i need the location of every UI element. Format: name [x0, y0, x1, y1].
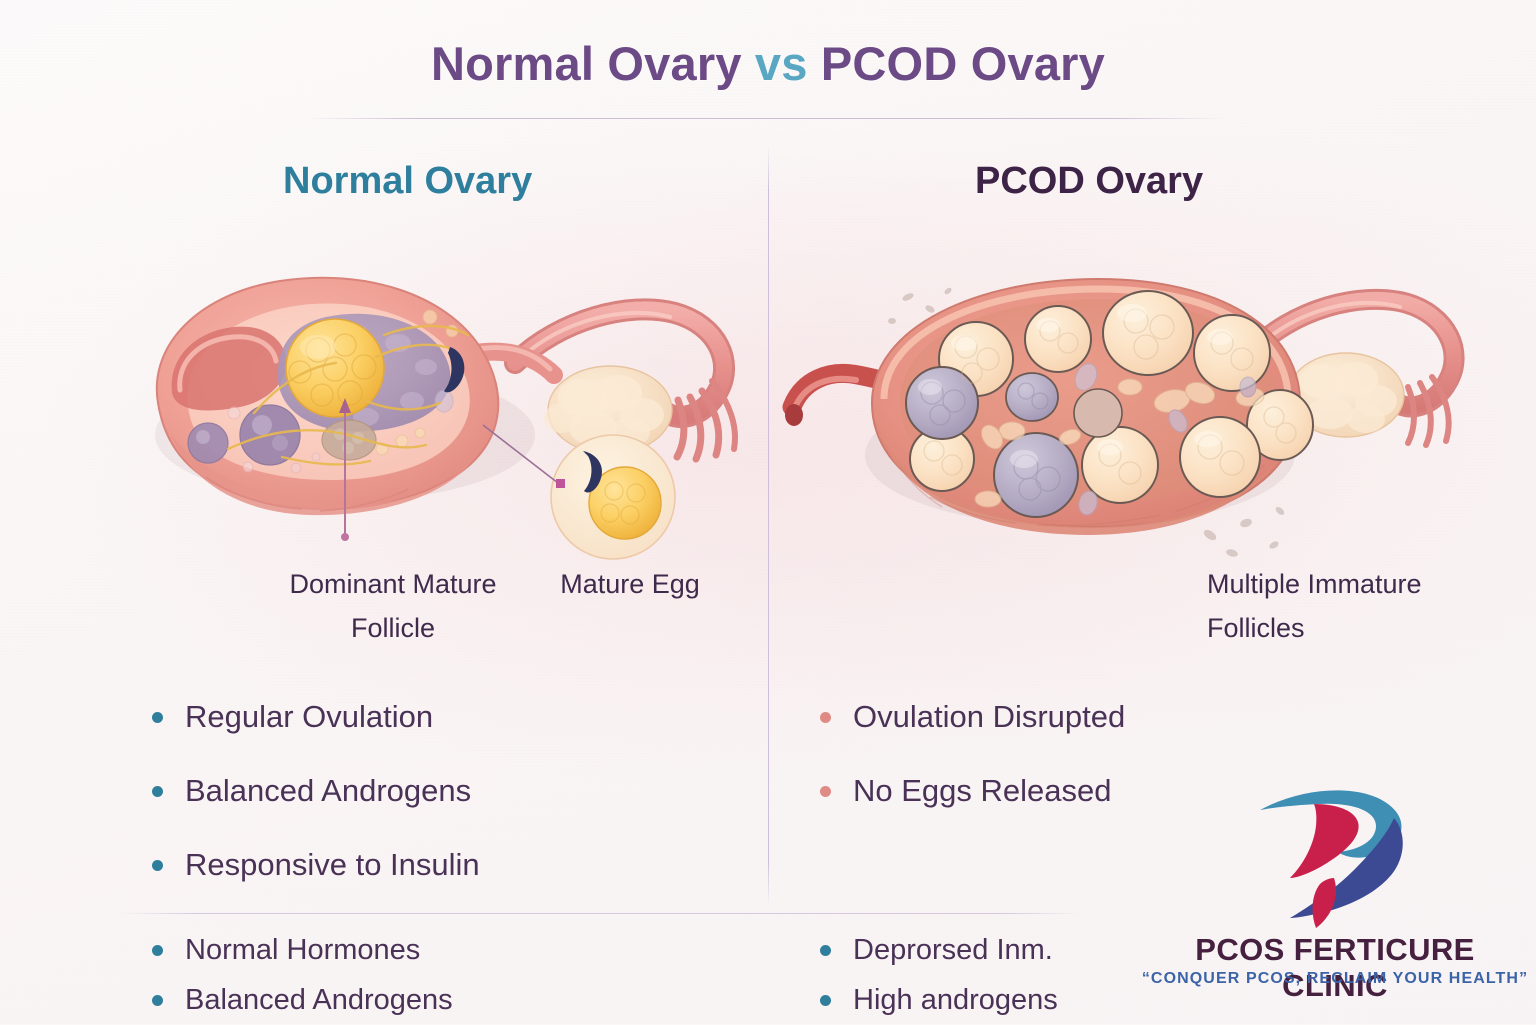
bullet-dot-icon — [152, 995, 163, 1006]
list-item: Ovulation Disrupted — [820, 680, 1125, 754]
list-item: Regular Ovulation — [152, 680, 480, 754]
list-item-label: Ovulation Disrupted — [853, 699, 1125, 735]
list-item: No Eggs Released — [820, 754, 1125, 828]
list-item-label: Normal Hormones — [185, 934, 420, 967]
clinic-logo-mark-icon — [1258, 782, 1418, 932]
list-item-label: Balanced Androgens — [185, 773, 471, 809]
normal-ovary-feature-list: Regular Ovulation Balanced Androgens Res… — [152, 680, 480, 902]
title-part-normal: Normal Ovary — [431, 37, 755, 90]
callout-dominant-mature-follicle: Dominant Mature Follicle — [268, 562, 518, 650]
title-divider — [305, 118, 1225, 119]
callout-multiple-immature-follicles: Multiple Immature Follicles — [1207, 562, 1507, 650]
pcod-ovary-hormone-list: Deprorsed Inm. High androgens — [820, 925, 1058, 1025]
list-item-label: Responsive to Insulin — [185, 847, 480, 883]
title-vs: vs — [755, 37, 808, 90]
title-part-pcod: PCOD Ovary — [808, 37, 1105, 90]
bullet-dot-icon — [152, 860, 163, 871]
callout-mature-egg: Mature Egg — [535, 562, 725, 606]
list-item: Responsive to Insulin — [152, 828, 480, 902]
bullet-dot-icon — [820, 786, 831, 797]
pcod-ovary-feature-list: Ovulation Disrupted No Eggs Released — [820, 680, 1125, 828]
pcod-ovary-illustration — [780, 235, 1480, 565]
list-item: High androgens — [820, 975, 1058, 1025]
list-item-label: No Eggs Released — [853, 773, 1112, 809]
bullet-dot-icon — [152, 712, 163, 723]
normal-ovary-illustration — [130, 235, 770, 565]
column-heading-normal: Normal Ovary — [283, 160, 532, 203]
bullet-dot-icon — [820, 945, 831, 956]
list-item: Normal Hormones — [152, 925, 453, 975]
list-item-label: Balanced Androgens — [185, 984, 453, 1017]
list-item-label: Deprorsed Inm. — [853, 934, 1053, 967]
ovary-body-normal — [157, 278, 498, 515]
bullet-dot-icon — [820, 995, 831, 1006]
list-item: Balanced Androgens — [152, 975, 453, 1025]
normal-ovary-hormone-list: Normal Hormones Balanced Androgens — [152, 925, 453, 1025]
list-item-label: High androgens — [853, 984, 1058, 1017]
bullet-dot-icon — [152, 945, 163, 956]
clinic-logo: PCOS FERTICURE CLINIC “CONQUER PCOS, REC… — [1140, 782, 1530, 1012]
horizontal-divider — [120, 913, 1080, 914]
list-item-label: Regular Ovulation — [185, 699, 433, 735]
bullet-dot-icon — [152, 786, 163, 797]
clinic-name: PCOS FERTICURE CLINIC — [1140, 932, 1530, 1004]
mature-egg-inset — [551, 435, 675, 559]
list-item: Deprorsed Inm. — [820, 925, 1058, 975]
page-title: Normal Ovary vs PCOD Ovary — [0, 36, 1536, 91]
list-item: Balanced Androgens — [152, 754, 480, 828]
clinic-tagline: “CONQUER PCOS, RECLAIM YOUR HEALTH” — [1140, 970, 1530, 988]
column-heading-pcod: PCOD Ovary — [975, 160, 1203, 203]
bullet-dot-icon — [820, 712, 831, 723]
